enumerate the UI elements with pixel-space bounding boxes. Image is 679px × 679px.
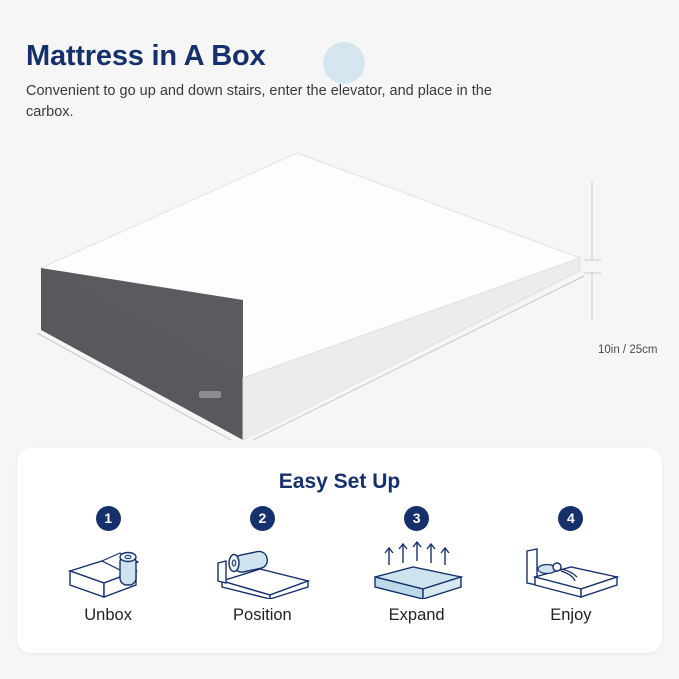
setup-step-enjoy: 4 xyxy=(496,506,646,625)
easy-setup-title: Easy Set Up xyxy=(17,470,662,494)
setup-step-unbox: 1 Unbox xyxy=(33,506,183,625)
mattress-illustration: 10in / 25cm 75in / 191cm 39in / 99cm xyxy=(0,140,679,440)
title-highlight-circle xyxy=(323,42,365,84)
mattress-label-tag xyxy=(199,391,221,398)
enjoy-icon xyxy=(517,537,625,599)
header: Mattress in A Box Convenient to go up an… xyxy=(26,40,646,123)
dimension-height-label: 10in / 25cm xyxy=(598,343,657,357)
step-number-badge: 3 xyxy=(404,506,429,531)
step-label: Unbox xyxy=(84,606,132,625)
unbox-icon xyxy=(62,537,154,599)
step-number-badge: 1 xyxy=(96,506,121,531)
page-subtitle: Convenient to go up and down stairs, ent… xyxy=(26,81,526,123)
setup-steps: 1 Unbox xyxy=(17,506,662,625)
step-label: Enjoy xyxy=(550,606,591,625)
easy-setup-card: Easy Set Up 1 xyxy=(17,448,662,653)
setup-step-position: 2 Position xyxy=(187,506,337,625)
step-label: Expand xyxy=(389,606,445,625)
mattress-svg xyxy=(0,140,679,440)
setup-step-expand: 3 xyxy=(342,506,492,625)
expand-icon xyxy=(363,537,471,599)
step-number-badge: 4 xyxy=(558,506,583,531)
step-label: Position xyxy=(233,606,292,625)
product-infographic: Mattress in A Box Convenient to go up an… xyxy=(0,0,679,679)
title-wrap: Mattress in A Box xyxy=(26,40,265,73)
step-number-badge: 2 xyxy=(250,506,275,531)
position-icon xyxy=(208,537,316,599)
page-title: Mattress in A Box xyxy=(26,40,265,73)
